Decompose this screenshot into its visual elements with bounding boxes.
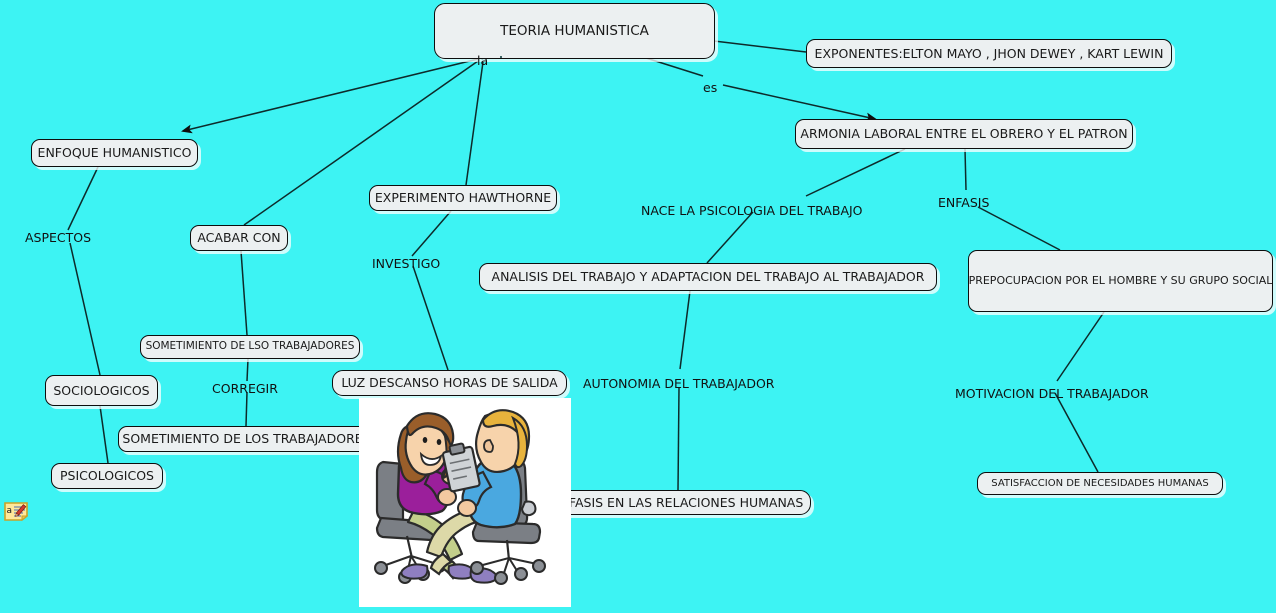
node-satisfaccion[interactable]: SATISFACCION DE NECESIDADES HUMANAS: [977, 472, 1223, 495]
node-sometim2[interactable]: SOMETIMIENTO DE LOS TRABAJADORES: [118, 426, 375, 452]
edge-autonomia-enfasisrel: [678, 388, 679, 490]
node-psicologicos[interactable]: PSICOLOGICOS: [51, 463, 163, 489]
node-label: ACABAR CON: [197, 231, 280, 245]
link-label-es: es: [703, 80, 717, 95]
node-label: EXPERIMENTO HAWTHORNE: [375, 191, 551, 205]
edge-experim-investigo: [412, 211, 451, 256]
edge-la-experimento: [466, 62, 483, 185]
edge-prepocup-motivacion: [1057, 312, 1104, 381]
link-label-motivacion: MOTIVACION DEL TRABAJADOR: [955, 386, 1149, 401]
link-label-corregir: CORREGIR: [212, 381, 278, 396]
edge-enfoque-aspectos: [68, 167, 98, 230]
node-luz[interactable]: LUZ DESCANSO HORAS DE SALIDA: [332, 370, 567, 396]
edge-es-armonia: [723, 85, 875, 119]
node-analisis[interactable]: ANALISIS DEL TRABAJO Y ADAPTACION DEL TR…: [479, 263, 937, 291]
edge-acabar-sometim1: [241, 251, 247, 335]
edge-analisis-autonomia: [680, 291, 690, 369]
node-enfasisrel[interactable]: ENFASIS EN LAS RELACIONES HUMANAS: [544, 490, 811, 515]
edge-corregir-sometim2: [246, 392, 247, 426]
edge-la-enfoque: [183, 59, 478, 131]
svg-text:a: a: [7, 506, 13, 516]
edge-enfasis-prepocup: [978, 207, 1060, 250]
note-annotation-icon[interactable]: a: [4, 502, 28, 521]
node-experimento[interactable]: EXPERIMENTO HAWTHORNE: [369, 185, 557, 211]
link-label-autonomia: AUTONOMIA DEL TRABAJADOR: [583, 376, 774, 391]
edge-root-exponentes: [714, 41, 806, 52]
edge-nace-analisis: [707, 212, 753, 263]
node-label: ANALISIS DEL TRABAJO Y ADAPTACION DEL TR…: [492, 270, 925, 284]
node-label: LUZ DESCANSO HORAS DE SALIDA: [341, 376, 557, 390]
node-exponentes[interactable]: EXPONENTES:ELTON MAYO , JHON DEWEY , KAR…: [806, 39, 1172, 68]
node-acabar[interactable]: ACABAR CON: [190, 225, 288, 251]
edge-armonia-enfasis: [965, 149, 966, 190]
node-label: PREPOCUPACION POR EL HOMBRE Y SU GRUPO S…: [969, 275, 1273, 287]
concept-map-canvas: TEORIA HUMANISTICAEXPONENTES:ELTON MAYO …: [0, 0, 1276, 613]
node-label: TEORIA HUMANISTICA: [500, 24, 649, 39]
node-sometim1[interactable]: SOMETIMIENTO DE LSO TRABAJADORES: [140, 335, 360, 359]
edge-armonia-nace: [806, 149, 905, 196]
node-label: ENFASIS EN LAS RELACIONES HUMANAS: [552, 496, 804, 510]
node-sociologicos[interactable]: SOCIOLOGICOS: [45, 375, 158, 406]
node-armonia[interactable]: ARMONIA LABORAL ENTRE EL OBRERO Y EL PAT…: [795, 119, 1133, 149]
link-label-enfasis: ENFASIS: [938, 195, 989, 210]
node-label: SATISFACCION DE NECESIDADES HUMANAS: [991, 478, 1208, 489]
node-enfoque[interactable]: ENFOQUE HUMANISTICO: [31, 139, 198, 167]
node-prepocup[interactable]: PREPOCUPACION POR EL HOMBRE Y SU GRUPO S…: [968, 250, 1273, 312]
edge-investigo-luz: [413, 266, 448, 370]
node-label: ARMONIA LABORAL ENTRE EL OBRERO Y EL PAT…: [800, 127, 1127, 141]
edge-motivacion-satisf: [1055, 393, 1098, 472]
link-label-aspectos: ASPECTOS: [25, 230, 91, 245]
edge-sometim1-corregir: [247, 359, 248, 381]
node-label: EXPONENTES:ELTON MAYO , JHON DEWEY , KAR…: [815, 47, 1164, 61]
la-label-dot: [500, 56, 502, 58]
edge-aspectos-socio: [70, 243, 100, 375]
link-label-la: la: [477, 53, 488, 68]
clipart-two-people-talking: [359, 398, 571, 607]
edge-root-es-armonia: [646, 58, 703, 76]
link-label-nace: NACE LA PSICOLOGIA DEL TRABAJO: [641, 203, 863, 218]
node-label: SOMETIMIENTO DE LSO TRABAJADORES: [146, 341, 355, 353]
node-root[interactable]: TEORIA HUMANISTICA: [434, 3, 715, 59]
node-label: PSICOLOGICOS: [60, 469, 154, 483]
node-label: SOCIOLOGICOS: [53, 384, 149, 398]
node-label: ENFOQUE HUMANISTICO: [38, 146, 192, 160]
edge-socio-psico: [100, 406, 108, 463]
node-label: SOMETIMIENTO DE LOS TRABAJADORES: [122, 432, 370, 446]
link-label-investigo: INVESTIGO: [372, 256, 440, 271]
